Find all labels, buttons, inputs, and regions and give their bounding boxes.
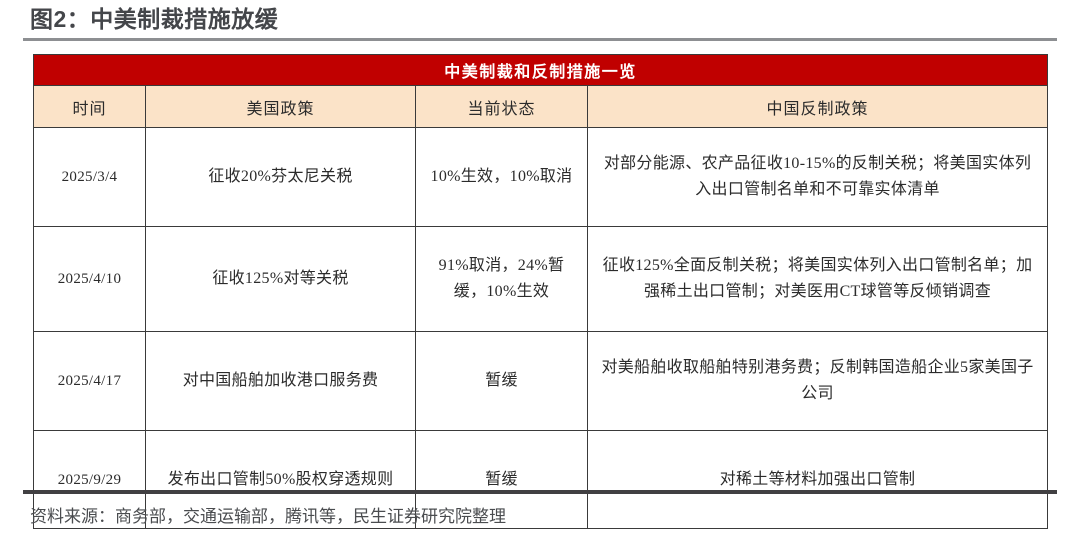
cell-china-policy: 征收125%全面反制关税；将美国实体列入出口管制名单；加强稀土出口管制；对美医用… bbox=[588, 227, 1048, 332]
cell-date: 2025/3/4 bbox=[34, 128, 146, 227]
sanctions-table: 中美制裁和反制措施一览 时间 美国政策 当前状态 中国反制政策 2025/3/4… bbox=[33, 54, 1048, 529]
column-header-time: 时间 bbox=[34, 86, 146, 128]
cell-china-policy: 对稀土等材料加强出口管制 bbox=[588, 431, 1048, 529]
cell-us-policy: 对中国船舶加收港口服务费 bbox=[146, 332, 416, 431]
title-divider bbox=[23, 38, 1057, 41]
cell-date: 2025/4/17 bbox=[34, 332, 146, 431]
table-header-row: 时间 美国政策 当前状态 中国反制政策 bbox=[34, 86, 1048, 128]
source-note: 资料来源：商务部，交通运输部，腾讯等，民生证券研究院整理 bbox=[30, 504, 506, 530]
column-header-status: 当前状态 bbox=[416, 86, 588, 128]
page-title: 图2：中美制裁措施放缓 bbox=[30, 4, 278, 34]
cell-status: 91%取消，24%暂缓，10%生效 bbox=[416, 227, 588, 332]
table-banner-row: 中美制裁和反制措施一览 bbox=[34, 55, 1048, 86]
column-header-china-policy: 中国反制政策 bbox=[588, 86, 1048, 128]
table-row: 2025/3/4 征收20%芬太尼关税 10%生效，10%取消 对部分能源、农产… bbox=[34, 128, 1048, 227]
table-banner-title: 中美制裁和反制措施一览 bbox=[34, 55, 1048, 86]
cell-china-policy: 对美船舶收取船舶特别港务费；反制韩国造船企业5家美国子公司 bbox=[588, 332, 1048, 431]
footer-divider bbox=[23, 490, 1057, 494]
sanctions-table-wrapper: 中美制裁和反制措施一览 时间 美国政策 当前状态 中国反制政策 2025/3/4… bbox=[33, 54, 1047, 529]
column-header-us-policy: 美国政策 bbox=[146, 86, 416, 128]
cell-date: 2025/4/10 bbox=[34, 227, 146, 332]
cell-us-policy: 征收20%芬太尼关税 bbox=[146, 128, 416, 227]
cell-status: 10%生效，10%取消 bbox=[416, 128, 588, 227]
cell-china-policy: 对部分能源、农产品征收10-15%的反制关税；将美国实体列入出口管制名单和不可靠… bbox=[588, 128, 1048, 227]
cell-status: 暂缓 bbox=[416, 332, 588, 431]
table-row: 2025/4/17 对中国船舶加收港口服务费 暂缓 对美船舶收取船舶特别港务费；… bbox=[34, 332, 1048, 431]
table-row: 2025/4/10 征收125%对等关税 91%取消，24%暂缓，10%生效 征… bbox=[34, 227, 1048, 332]
cell-us-policy: 征收125%对等关税 bbox=[146, 227, 416, 332]
figure-container: 图2：中美制裁措施放缓 中美制裁和反制措施一览 时间 美国政策 当前状态 中国反… bbox=[0, 0, 1080, 539]
